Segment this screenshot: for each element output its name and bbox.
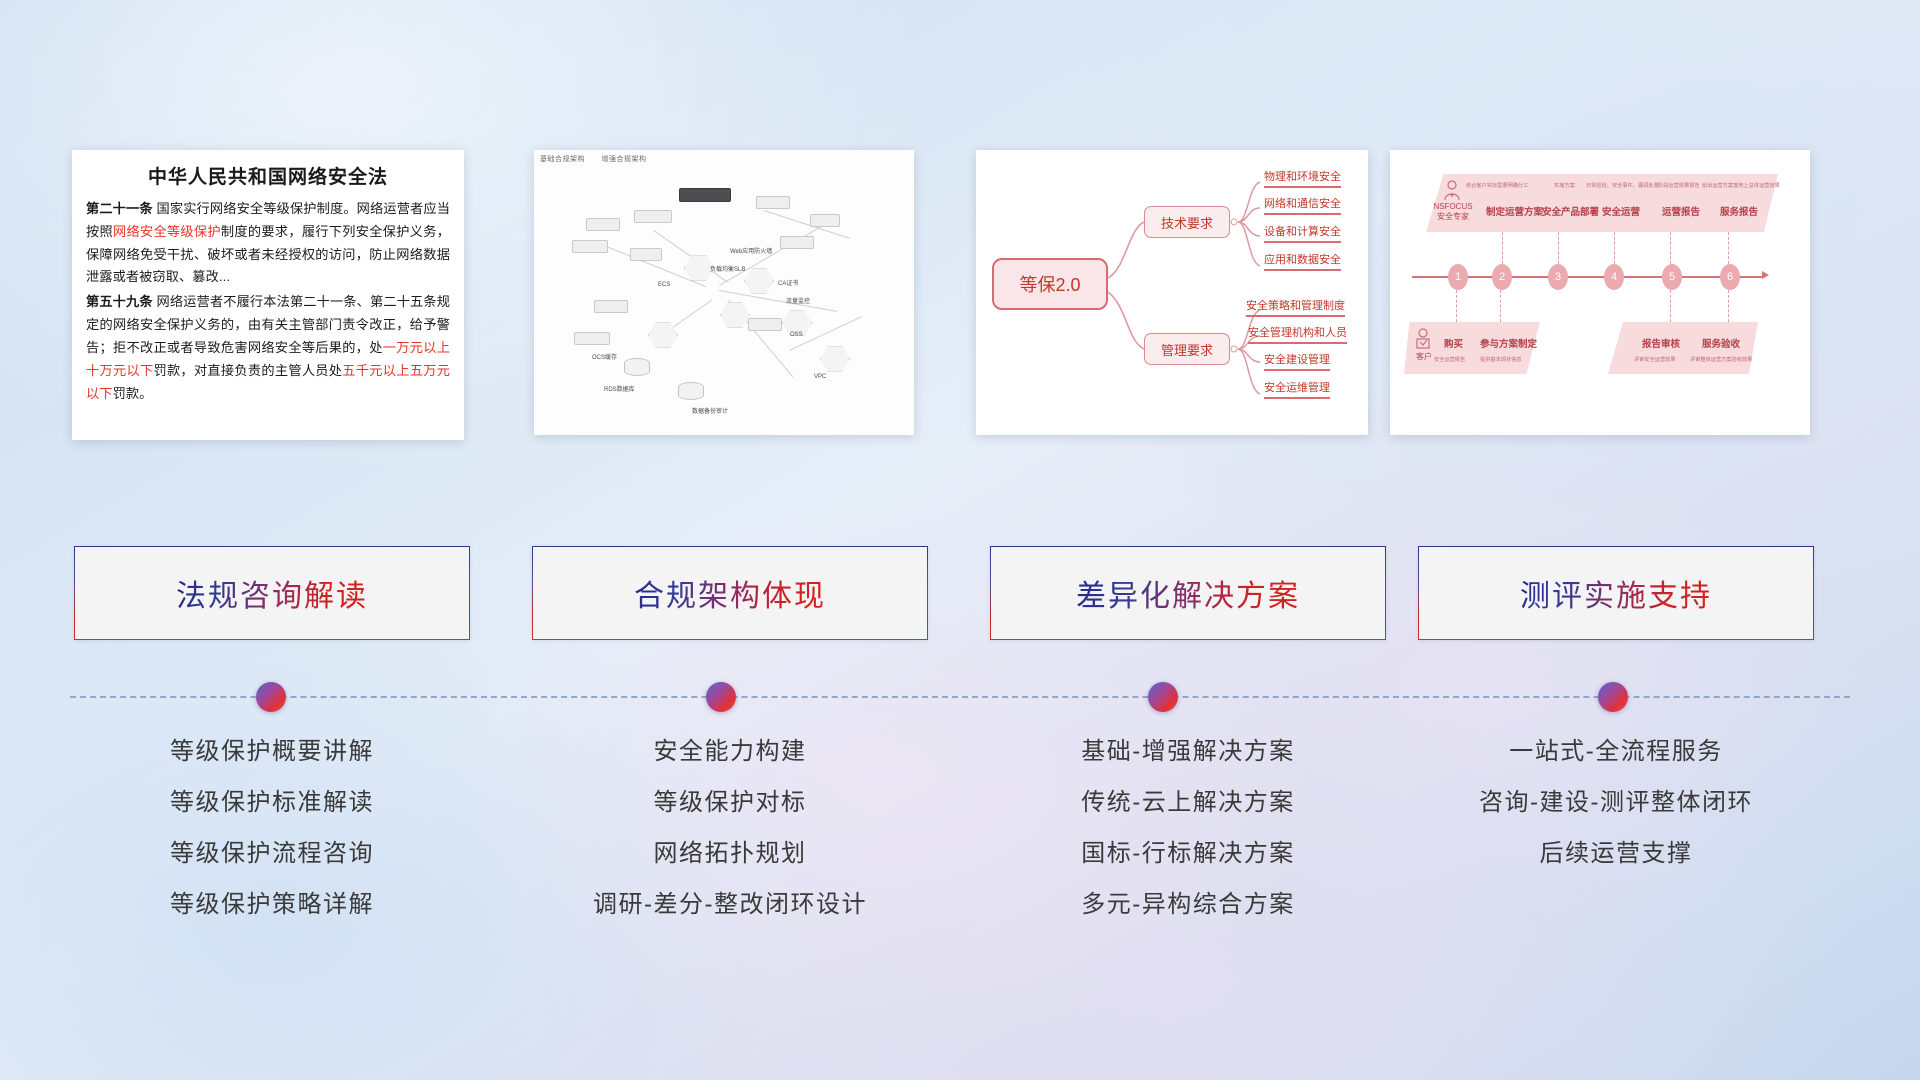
timeline-bottom-sub: 提供基本现状信息 — [1480, 356, 1522, 363]
arch-label-monitor: 流量监控 — [786, 296, 810, 305]
arch-header-left: 基础合规架构 — [540, 156, 585, 163]
list-item: 调研-差分-整改闭环设计 — [532, 893, 928, 917]
list-item: 咨询-建设-测评整体闭环 — [1418, 791, 1814, 815]
timeline-node[interactable]: 1 — [1448, 264, 1468, 290]
arch-hex-node — [720, 302, 750, 328]
section-header-box-solution[interactable]: 差异化解决方案 — [990, 546, 1386, 640]
arch-label-slb: 负载均衡SLB — [710, 264, 745, 273]
arch-node-main — [679, 188, 731, 202]
list-item: 国标-行标解决方案 — [990, 842, 1386, 866]
svg-text:★: ★ — [1449, 192, 1454, 199]
timeline-top-title: 安全运营 — [1602, 204, 1640, 218]
arch-db-node — [624, 358, 650, 376]
timeline-dash — [1670, 290, 1671, 322]
article-59-part3: 罚款。 — [113, 386, 153, 401]
service-timeline: ★ NSFOCUS 安全专家 客户 结合客户实际需要明确分工 制定运营方案 实施… — [1390, 150, 1810, 435]
timeline-dash — [1558, 232, 1559, 264]
arch-node — [586, 218, 620, 231]
timeline-bottom-sub: 安全运营报告 — [1434, 356, 1465, 363]
timeline-bottom-title: 服务验收 — [1702, 336, 1740, 350]
arch-label-waf: Web应用防火墙 — [730, 246, 772, 255]
expert-title: 安全专家 — [1424, 212, 1482, 222]
timeline-dash — [1728, 290, 1729, 322]
mindmap-leaf: 应用和数据安全 — [1264, 251, 1341, 271]
arch-header-right: 增强合规架构 — [601, 156, 646, 163]
timeline-node[interactable]: 5 — [1662, 264, 1682, 290]
expert-person-icon: ★ — [1442, 180, 1462, 202]
section-lists-row: 等级保护概要讲解 等级保护标准解读 等级保护流程咨询 等级保护策略详解 安全能力… — [0, 740, 1920, 990]
mindmap-leaf: 安全运维管理 — [1264, 379, 1330, 399]
card-cybersecurity-law[interactable]: 中华人民共和国网络安全法 第二十一条 国家实行网络安全等级保护制度。网络运营者应… — [72, 150, 464, 440]
list-item: 一站式-全流程服务 — [1418, 740, 1814, 764]
card-service-timeline[interactable]: ★ NSFOCUS 安全专家 客户 结合客户实际需要明确分工 制定运营方案 实施… — [1390, 150, 1810, 435]
arch-node — [780, 236, 814, 249]
timeline-dashed-rule — [70, 696, 1850, 698]
timeline-bottom-sub: 评审安全运营效果 — [1634, 356, 1676, 363]
mindmap: 等保2.0 技术要求 管理要求 物理和环境安全 网络和通信安全 设备和计算安全 … — [976, 150, 1368, 435]
arch-node — [572, 240, 608, 253]
timeline-arrow-icon — [1762, 271, 1769, 279]
timeline-top-sub: 结合客户实际需要明确分工 — [1466, 182, 1528, 189]
timeline-bottom-title: 参与方案制定 — [1480, 336, 1537, 350]
section-headers-row: 法规咨询解读 合规架构体现 差异化解决方案 测评实施支持 — [0, 546, 1920, 642]
section-header-label: 法规咨询解读 — [176, 571, 368, 615]
law-article-59: 第五十九条 网络运营者不履行本法第二十一条、第二十五条规定的网络安全保护义务的，… — [86, 291, 450, 405]
architecture-diagram: 基础合规架构 增强合规架构 — [534, 150, 914, 435]
timeline-marker-dot-4[interactable] — [1598, 682, 1628, 712]
mindmap-root-node[interactable]: 等保2.0 — [992, 258, 1108, 310]
mindmap-leaf: 物理和环境安全 — [1264, 168, 1341, 188]
arch-node — [574, 332, 610, 345]
timeline-marker-dot-3[interactable] — [1148, 682, 1178, 712]
section-list-architecture: 安全能力构建 等级保护对标 网络拓扑规划 调研-差分-整改闭环设计 — [532, 740, 928, 944]
timeline-dash — [1500, 290, 1501, 322]
timeline-top-title: 制定运营方案 — [1486, 204, 1543, 218]
arch-node — [748, 318, 782, 331]
arch-node — [594, 300, 628, 313]
timeline-bottom-sub: 评审整体运营方案验收效果 — [1690, 356, 1752, 363]
list-item: 安全能力构建 — [532, 740, 928, 764]
list-item: 等级保护策略详解 — [74, 893, 470, 917]
timeline-dash — [1670, 232, 1671, 264]
mindmap-branch-management[interactable]: 管理要求 — [1144, 333, 1230, 365]
arch-diagram-header: 基础合规架构 增强合规架构 — [540, 154, 660, 164]
list-item: 多元-异构综合方案 — [990, 893, 1386, 917]
arch-node — [756, 196, 790, 209]
article-21-highlight: 网络安全等级保护 — [113, 224, 221, 239]
mindmap-leaf: 安全建设管理 — [1264, 351, 1330, 371]
list-item: 等级保护概要讲解 — [74, 740, 470, 764]
section-header-label: 测评实施支持 — [1520, 571, 1712, 615]
list-item: 后续运营支撑 — [1418, 842, 1814, 866]
mindmap-leaf: 设备和计算安全 — [1264, 223, 1341, 243]
timeline-dash — [1456, 290, 1457, 322]
timeline-marker-dot-2[interactable] — [706, 682, 736, 712]
article-59-label: 第五十九条 — [86, 294, 153, 309]
timeline-bottom-title: 报告审核 — [1642, 336, 1680, 350]
list-item: 等级保护对标 — [532, 791, 928, 815]
timeline-top-title: 安全产品部署 — [1542, 204, 1599, 218]
timeline-top-sub: 给出运营方案落地上总体运营效果 — [1702, 182, 1780, 189]
mindmap-branch-technical[interactable]: 技术要求 — [1144, 206, 1230, 238]
law-article-21: 第二十一条 国家实行网络安全等级保护制度。网络运营者应当按照网络安全等级保护制度… — [86, 198, 450, 289]
timeline-role-expert: NSFOCUS 安全专家 — [1424, 202, 1482, 222]
arch-node — [810, 214, 840, 227]
law-document: 中华人民共和国网络安全法 第二十一条 国家实行网络安全等级保护制度。网络运营者应… — [72, 150, 464, 415]
arch-label-ecs: ECS — [658, 282, 670, 288]
timeline-top-sub: 日常巡检、安全事件、漏洞处置 — [1586, 182, 1659, 189]
mindmap-leaf: 网络和通信安全 — [1264, 195, 1341, 215]
section-list-solution: 基础-增强解决方案 传统-云上解决方案 国标-行标解决方案 多元-异构综合方案 — [990, 740, 1386, 944]
screenshot-cards-row: 中华人民共和国网络安全法 第二十一条 国家实行网络安全等级保护制度。网络运营者应… — [0, 150, 1920, 450]
timeline-bottom-title: 购买 — [1444, 336, 1463, 350]
timeline-top-sub: 实施方案 — [1554, 182, 1575, 189]
timeline-node[interactable]: 4 — [1604, 264, 1624, 290]
arch-node — [634, 210, 672, 223]
timeline-dash — [1728, 232, 1729, 264]
section-list-assessment: 一站式-全流程服务 咨询-建设-测评整体闭环 后续运营支撑 — [1418, 740, 1814, 893]
timeline-dash — [1502, 232, 1503, 264]
timeline-top-sub: 阶段运营效果报告 — [1658, 182, 1700, 189]
timeline-dash — [1614, 232, 1615, 264]
arch-label-ocs: OCS缓存 — [592, 352, 617, 361]
list-item: 等级保护标准解读 — [74, 791, 470, 815]
arch-label-oss: OSS — [790, 332, 803, 338]
timeline-node[interactable]: 3 — [1548, 264, 1568, 290]
article-59-part2: 罚款，对直接负责的主管人员处 — [153, 363, 342, 378]
list-item: 等级保护流程咨询 — [74, 842, 470, 866]
section-header-label: 合规架构体现 — [634, 571, 826, 615]
list-item: 传统-云上解决方案 — [990, 791, 1386, 815]
section-header-box-regulation[interactable]: 法规咨询解读 — [74, 546, 470, 640]
timeline-node[interactable]: 6 — [1720, 264, 1740, 290]
arch-label-ca: CA证书 — [778, 278, 798, 287]
card-mindmap-dengbao[interactable]: 等保2.0 技术要求 管理要求 物理和环境安全 网络和通信安全 设备和计算安全 … — [976, 150, 1368, 435]
timeline-top-title: 运营报告 — [1662, 204, 1700, 218]
arch-label-backup: 数据备份审计 — [692, 406, 728, 415]
customer-person-icon — [1414, 328, 1432, 350]
list-item: 基础-增强解决方案 — [990, 740, 1386, 764]
list-item: 网络拓扑规划 — [532, 842, 928, 866]
timeline-node[interactable]: 2 — [1492, 264, 1512, 290]
timeline-top-title: 服务报告 — [1720, 204, 1758, 218]
mindmap-leaf: 安全策略和管理制度 — [1246, 297, 1345, 317]
arch-label-vpc: VPC — [814, 374, 826, 380]
mindmap-leaf: 安全管理机构和人员 — [1248, 324, 1347, 344]
expert-brand: NSFOCUS — [1424, 202, 1482, 212]
arch-hex-node — [820, 346, 850, 372]
law-title: 中华人民共和国网络安全法 — [86, 162, 450, 189]
section-header-label: 差异化解决方案 — [1076, 571, 1300, 615]
arch-label-rds: RDS数据库 — [604, 384, 635, 393]
article-21-label: 第二十一条 — [86, 201, 153, 216]
arch-node — [630, 248, 662, 261]
timeline-marker-dot-1[interactable] — [256, 682, 286, 712]
arch-db-node — [678, 382, 704, 400]
arch-hex-node — [744, 268, 774, 294]
section-list-regulation: 等级保护概要讲解 等级保护标准解读 等级保护流程咨询 等级保护策略详解 — [74, 740, 470, 944]
card-compliance-architecture[interactable]: 基础合规架构 增强合规架构 — [534, 150, 914, 435]
section-header-box-architecture[interactable]: 合规架构体现 — [532, 546, 928, 640]
section-header-box-assessment[interactable]: 测评实施支持 — [1418, 546, 1814, 640]
